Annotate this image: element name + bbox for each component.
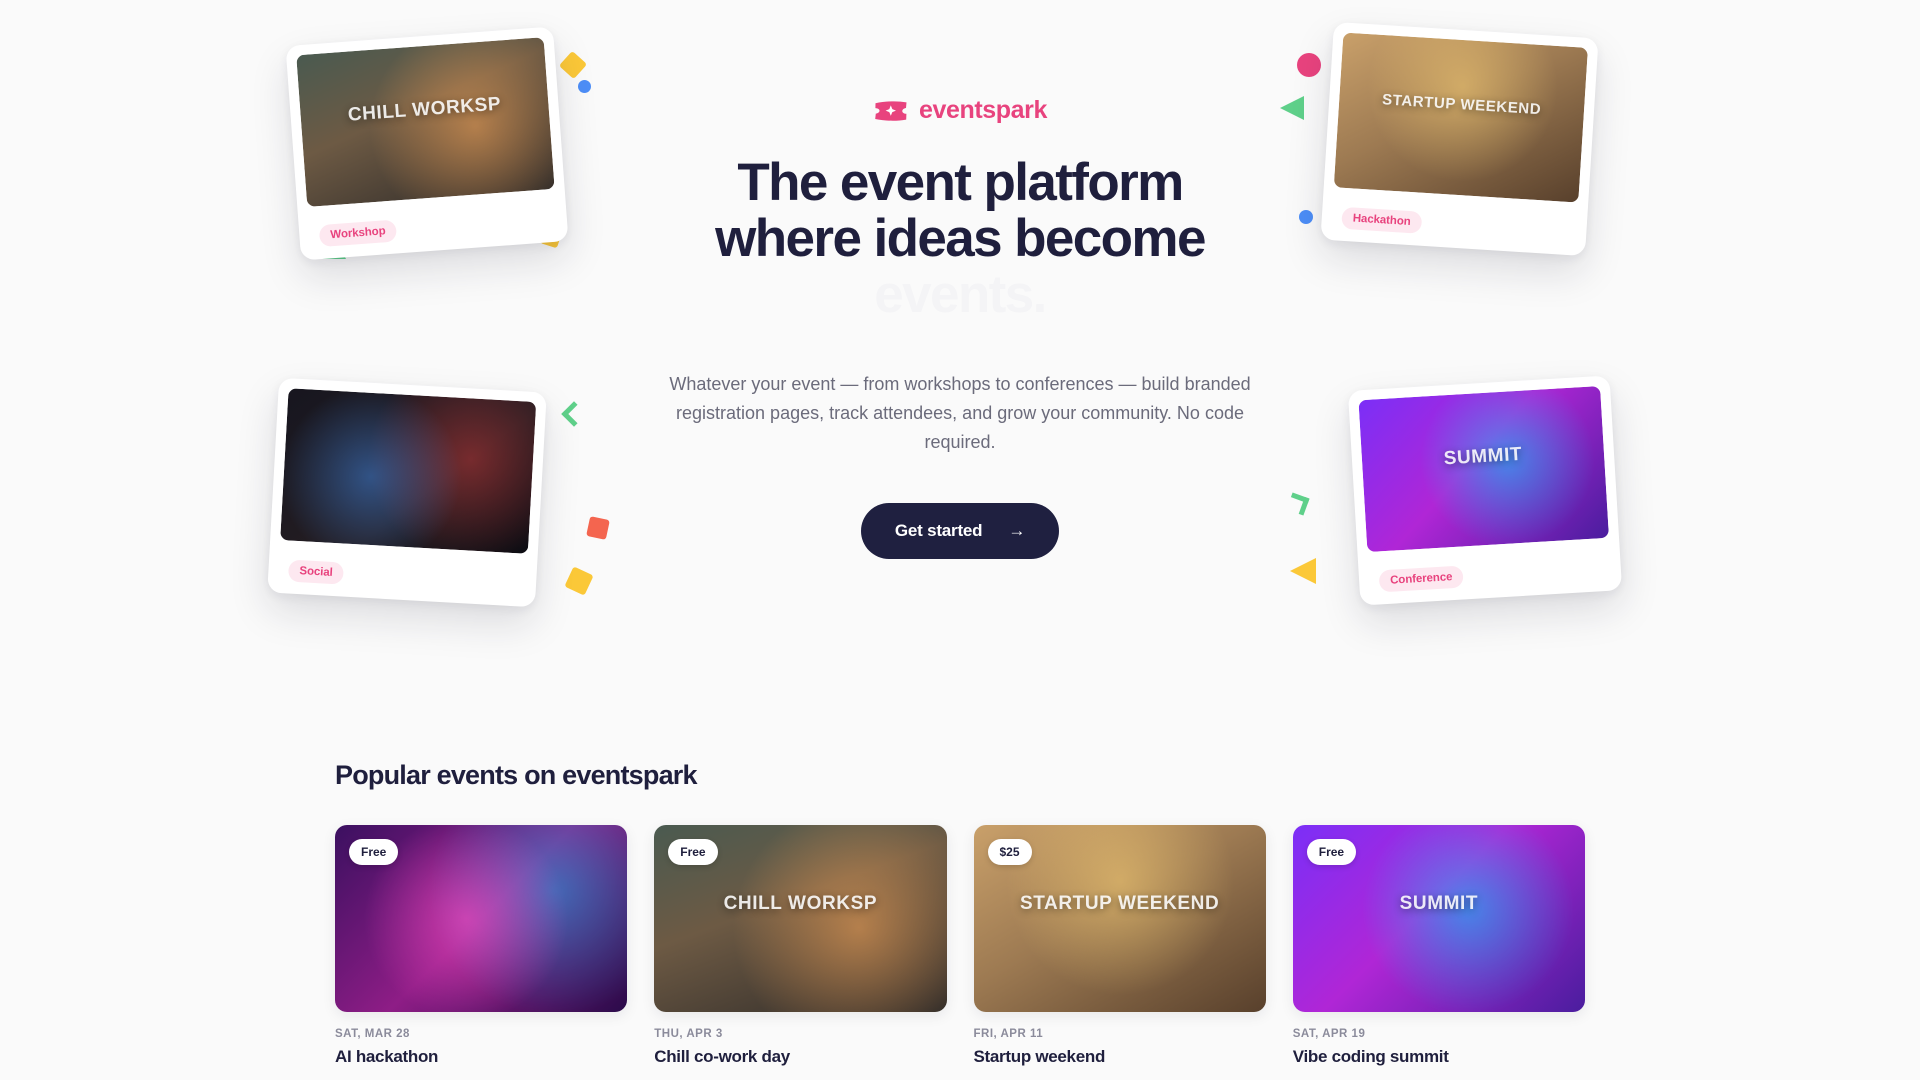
event-price-badge: Free (349, 839, 398, 865)
photo-overlay-text: SUMMIT (1362, 440, 1605, 474)
photo-overlay-text (285, 452, 533, 466)
get-started-label: Get started (895, 521, 983, 541)
event-price-badge: Free (1307, 839, 1356, 865)
photo-overlay-text: STARTUP WEEKEND (974, 894, 1266, 914)
event-title: Startup weekend (974, 1047, 1266, 1067)
polaroid-tag-workshop: Workshop (319, 219, 398, 247)
confetti-dot (1297, 53, 1321, 77)
polaroid-tag-hackathon: Hackathon (1341, 207, 1422, 234)
confetti-sq (564, 566, 593, 595)
event-date: SAT, MAR 28 (335, 1028, 627, 1040)
confetti-sq (586, 516, 610, 540)
polaroid-card-workshop[interactable]: CHILL WORKSP Workshop (285, 26, 568, 260)
section-title: Popular events on eventspark (335, 760, 1585, 791)
polaroid-card-hackathon[interactable]: STARTUP WEEKEND Hackathon (1320, 22, 1598, 256)
polaroid-photo-social (280, 388, 536, 554)
photo-overlay-text: CHILL WORKSP (300, 91, 549, 129)
event-card[interactable]: SUMMITFreeSAT, APR 19Vibe coding summit (1293, 825, 1585, 1067)
brand-logo[interactable]: eventspark (640, 96, 1280, 125)
event-thumbnail: STARTUP WEEKEND$25 (974, 825, 1266, 1012)
ticket-sparkle-icon (873, 99, 909, 123)
confetti-tri (1280, 96, 1304, 120)
event-title: Vibe coding summit (1293, 1047, 1585, 1067)
photo-overlay-text: SUMMIT (1293, 894, 1585, 914)
cta-container: Get started → (640, 503, 1280, 559)
hero-section: CHILL WORKSP Workshop STARTUP WEEKEND Ha… (0, 0, 1920, 700)
arrow-right-icon: → (1008, 522, 1025, 539)
hero-subtitle: Whatever your event — from workshops to … (640, 370, 1280, 457)
photo-overlay-text: STARTUP WEEKEND (1339, 90, 1585, 121)
event-price-badge: Free (668, 839, 717, 865)
event-price-badge: $25 (988, 839, 1032, 865)
page-title: The event platform where ideas become ev… (640, 155, 1280, 324)
event-date: FRI, APR 11 (974, 1028, 1266, 1040)
event-date: THU, APR 3 (654, 1028, 946, 1040)
headline-line-3: events. (640, 267, 1280, 323)
event-card-grid: FreeSAT, MAR 28AI hackathonCHILL WORKSPF… (335, 825, 1585, 1067)
popular-events-section: Popular events on eventspark FreeSAT, MA… (0, 760, 1920, 1067)
confetti-chev (1286, 492, 1309, 515)
confetti-sq (559, 51, 587, 79)
event-thumbnail: Free (335, 825, 627, 1012)
polaroid-card-conference[interactable]: SUMMIT Conference (1348, 375, 1622, 605)
confetti-dot (1299, 210, 1313, 224)
event-thumbnail: SUMMITFree (1293, 825, 1585, 1012)
polaroid-tag-conference: Conference (1379, 565, 1464, 592)
brand-name: eventspark (919, 96, 1047, 125)
get-started-button[interactable]: Get started → (861, 503, 1059, 559)
polaroid-photo-hackathon: STARTUP WEEKEND (1334, 33, 1588, 203)
event-date: SAT, APR 19 (1293, 1028, 1585, 1040)
event-card[interactable]: CHILL WORKSPFreeTHU, APR 3Chill co-work … (654, 825, 946, 1067)
event-title: AI hackathon (335, 1047, 627, 1067)
polaroid-card-social[interactable]: Social (267, 378, 547, 608)
headline-line-2: where ideas become (640, 211, 1280, 267)
confetti-tri (1290, 558, 1316, 584)
polaroid-photo-conference: SUMMIT (1358, 386, 1609, 552)
polaroid-tag-social: Social (288, 560, 344, 585)
photo-overlay-text: CHILL WORKSP (654, 894, 946, 914)
headline-line-1: The event platform (640, 155, 1280, 211)
hero-content: eventspark The event platform where idea… (640, 96, 1280, 559)
event-title: Chill co-work day (654, 1047, 946, 1067)
confetti-dot (578, 80, 591, 93)
event-card[interactable]: FreeSAT, MAR 28AI hackathon (335, 825, 627, 1067)
landing-page: CHILL WORKSP Workshop STARTUP WEEKEND Ha… (0, 0, 1920, 1080)
event-thumbnail: CHILL WORKSPFree (654, 825, 946, 1012)
polaroid-photo-workshop: CHILL WORKSP (296, 37, 554, 207)
event-card[interactable]: STARTUP WEEKEND$25FRI, APR 11Startup wee… (974, 825, 1266, 1067)
confetti-chev (561, 401, 586, 426)
